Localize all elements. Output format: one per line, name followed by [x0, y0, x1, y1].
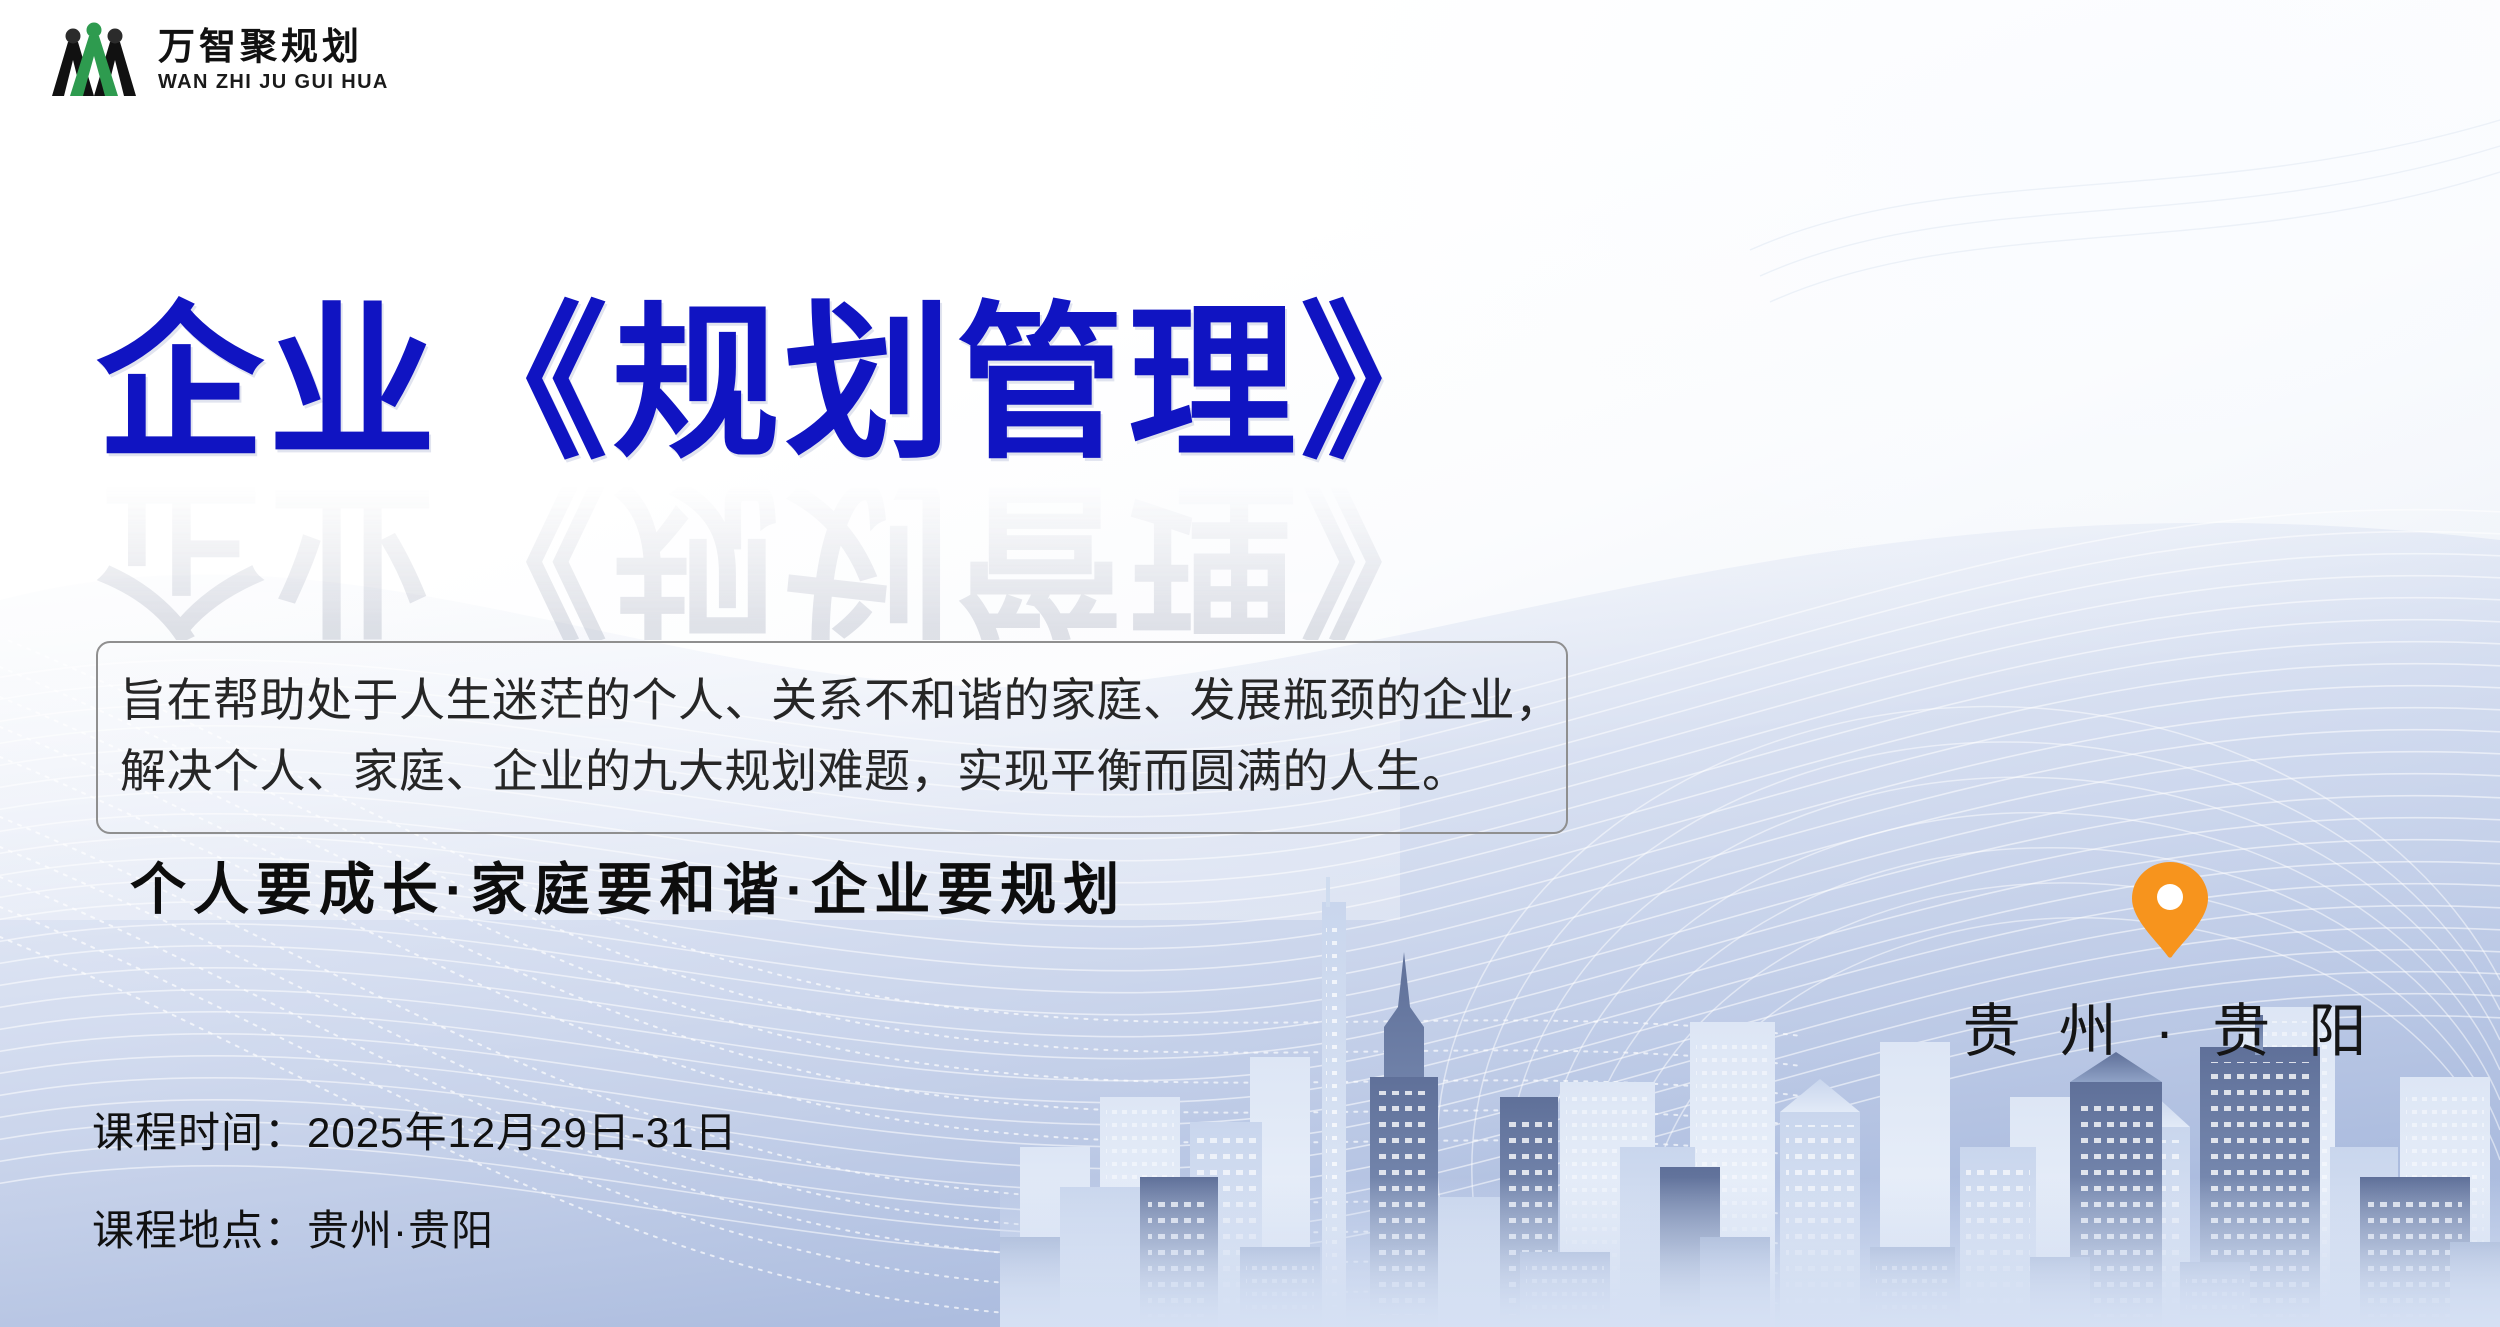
three-people-logo-icon: [44, 22, 144, 100]
course-time-label: 课程时间：: [92, 1109, 307, 1156]
brand-name-cn: 万智聚规划: [158, 28, 389, 67]
description-box: 旨在帮助处于人生迷茫的个人、关系不和谐的家庭、发展瓶颈的企业， 解决个人、家庭、…: [96, 641, 1568, 834]
location-block: 贵 州 · 贵 阳: [1960, 862, 2380, 1068]
course-info-block: 课程时间：2025年12月29日-31日 课程地点：贵州·贵阳: [92, 1112, 738, 1252]
course-place-label: 课程地点：: [92, 1207, 307, 1254]
map-pin-icon: [2132, 862, 2208, 958]
slogan-text: 个人要成长·家庭要和谐·企业要规划: [130, 845, 1126, 926]
skyline-bottom-fade: [1000, 1177, 2500, 1327]
hero-title-block: 企业《规划管理》 企业《规划管理》: [96, 300, 1472, 640]
poster-canvas: 万智聚规划 WAN ZHI JU GUI HUA 企业《规划管理》 企业《规划管…: [0, 0, 2500, 1327]
brand-name-pinyin: WAN ZHI JU GUI HUA: [158, 71, 389, 94]
course-time-value: 2025年12月29日-31日: [307, 1109, 738, 1156]
description-line-2: 解决个人、家庭、企业的九大规划难题，实现平衡而圆满的人生。: [120, 736, 1540, 807]
course-time-line: 课程时间：2025年12月29日-31日: [92, 1112, 738, 1154]
brand-logo[interactable]: 万智聚规划 WAN ZHI JU GUI HUA: [44, 22, 389, 100]
page-title: 企业《规划管理》: [96, 300, 1472, 468]
page-title-reflection: 企业《规划管理》: [96, 472, 1472, 640]
location-city-label: 贵 州 · 贵 阳: [1960, 984, 2380, 1068]
description-line-1: 旨在帮助处于人生迷茫的个人、关系不和谐的家庭、发展瓶颈的企业，: [120, 665, 1540, 736]
background-haze-right: [1300, 0, 2500, 700]
course-place-value: 贵州·贵阳: [307, 1207, 494, 1254]
brand-logo-text: 万智聚规划 WAN ZHI JU GUI HUA: [158, 28, 389, 93]
course-place-line: 课程地点：贵州·贵阳: [92, 1210, 738, 1252]
